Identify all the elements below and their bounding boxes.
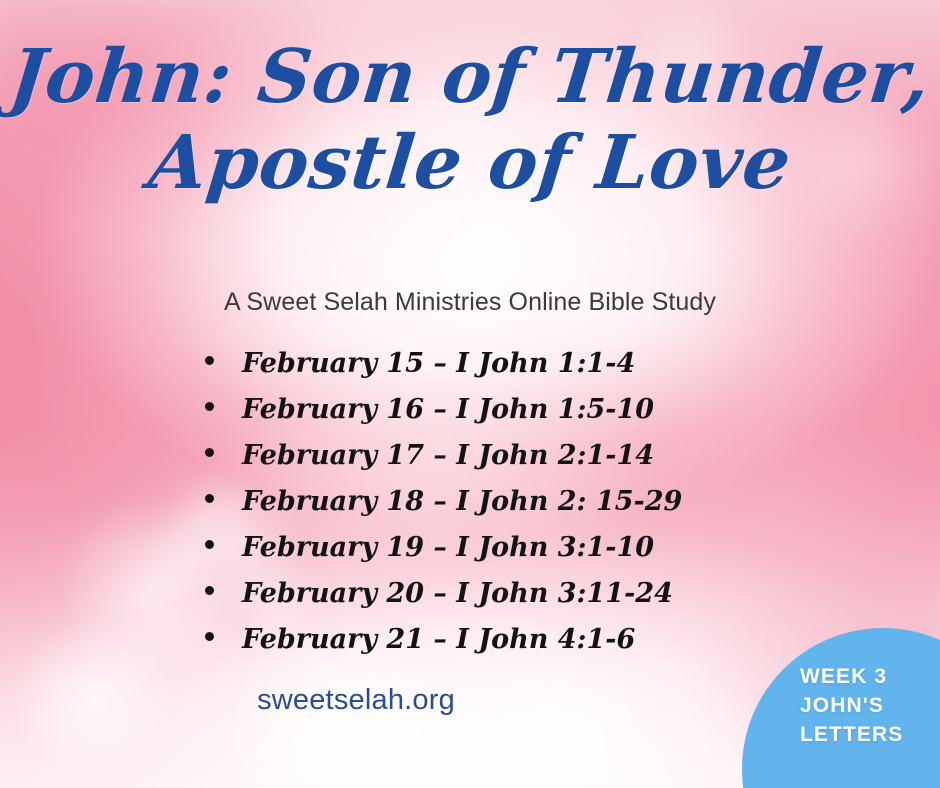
schedule-entry-text: February 21 – I John 4:1-6 xyxy=(242,624,635,655)
schedule-entry-text: February 19 – I John 3:1-10 xyxy=(242,532,654,563)
list-item: February 18 – I John 2: 15-29 xyxy=(205,486,682,532)
list-item: February 15 – I John 1:1-4 xyxy=(205,348,682,394)
week-badge: WEEK 3 JOHN'S LETTERS xyxy=(742,628,940,788)
bullet-icon xyxy=(205,448,214,457)
week-badge-line-three: LETTERS xyxy=(800,720,903,749)
bullet-icon xyxy=(205,540,214,549)
schedule-entry-text: February 15 – I John 1:1-4 xyxy=(242,348,635,379)
title-line-one: John: Son of Thunder, xyxy=(0,34,940,120)
subtitle: A Sweet Selah Ministries Online Bible St… xyxy=(0,288,940,317)
week-badge-text: WEEK 3 JOHN'S LETTERS xyxy=(800,662,903,749)
bible-study-poster: John: Son of Thunder, Apostle of Love A … xyxy=(0,0,940,788)
list-item: February 19 – I John 3:1-10 xyxy=(205,532,682,578)
list-item: February 20 – I John 3:11-24 xyxy=(205,578,682,624)
list-item: February 16 – I John 1:5-10 xyxy=(205,394,682,440)
schedule-entry-text: February 20 – I John 3:11-24 xyxy=(242,578,673,609)
list-item: February 21 – I John 4:1-6 xyxy=(205,624,682,670)
schedule-entry-text: February 16 – I John 1:5-10 xyxy=(242,394,654,425)
bullet-icon xyxy=(205,632,214,641)
week-badge-line-two: JOHN'S xyxy=(800,691,903,720)
bullet-icon xyxy=(205,586,214,595)
page-title: John: Son of Thunder, Apostle of Love xyxy=(0,34,940,206)
title-line-two: Apostle of Love xyxy=(0,120,940,206)
list-item: February 17 – I John 2:1-14 xyxy=(205,440,682,486)
schedule-entry-text: February 18 – I John 2: 15-29 xyxy=(242,486,682,517)
bullet-icon xyxy=(205,402,214,411)
week-badge-line-one: WEEK 3 xyxy=(800,662,903,691)
bullet-icon xyxy=(205,494,214,503)
poster-content: John: Son of Thunder, Apostle of Love A … xyxy=(0,0,940,788)
bullet-icon xyxy=(205,356,214,365)
schedule-entry-text: February 17 – I John 2:1-14 xyxy=(242,440,654,471)
reading-schedule-list: February 15 – I John 1:1-4 February 16 –… xyxy=(205,348,682,670)
